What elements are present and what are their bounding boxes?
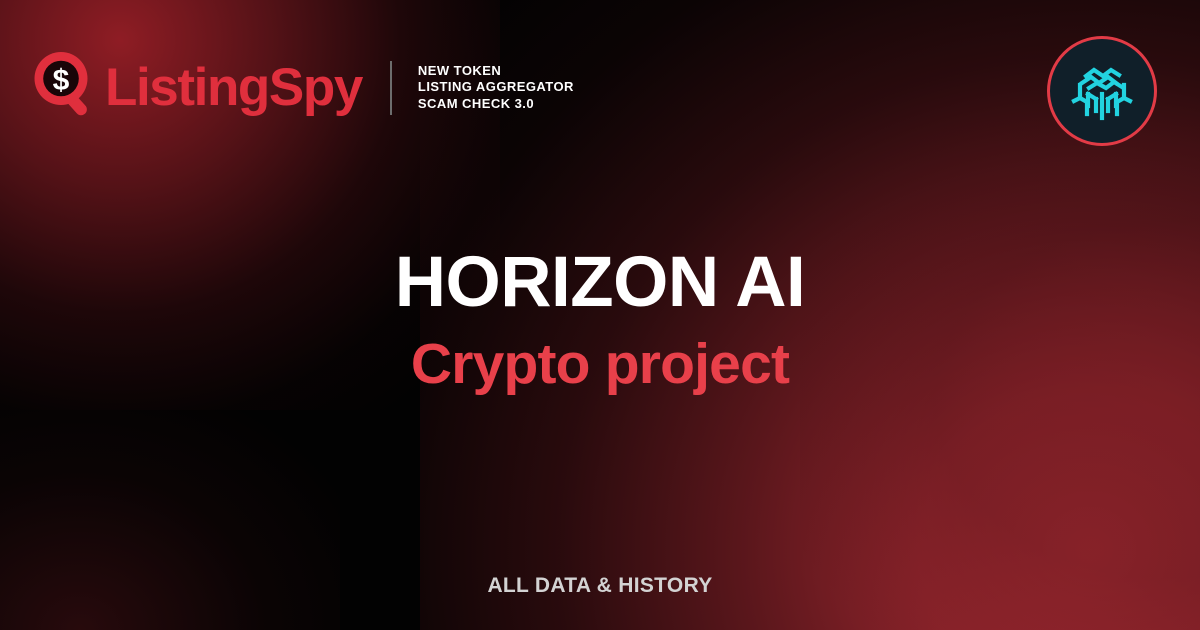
tagline-line-1: NEW TOKEN [418,63,574,80]
brand-tagline: NEW TOKEN LISTING AGGREGATOR SCAM CHECK … [418,63,574,113]
brand-logo[interactable]: $ ListingSpy [34,52,362,123]
wordmark-listing: Listing [105,58,269,117]
magnifier-dollar-icon: $ [34,52,96,123]
tagline-line-3: SCAM CHECK 3.0 [418,96,574,113]
main-content: HORIZON AI Crypto project [0,243,1200,399]
token-logo-badge[interactable] [1047,36,1157,146]
footer: ALL DATA & HISTORY [0,574,1200,598]
svg-text:$: $ [53,64,70,97]
tagline-line-2: LISTING AGGREGATOR [418,79,574,96]
brand-wordmark: ListingSpy [105,61,362,114]
page-title: HORIZON AI [0,243,1200,323]
token-card-canvas: $ ListingSpy NEW TOKEN LISTING AGGREGATO… [0,0,1200,630]
circuit-cube-icon [1066,54,1138,128]
footer-text: ALL DATA & HISTORY [0,574,1200,598]
wordmark-spy: Spy [269,58,362,117]
header-divider [390,61,392,115]
header: $ ListingSpy NEW TOKEN LISTING AGGREGATO… [34,52,574,123]
page-subtitle: Crypto project [0,329,1200,399]
